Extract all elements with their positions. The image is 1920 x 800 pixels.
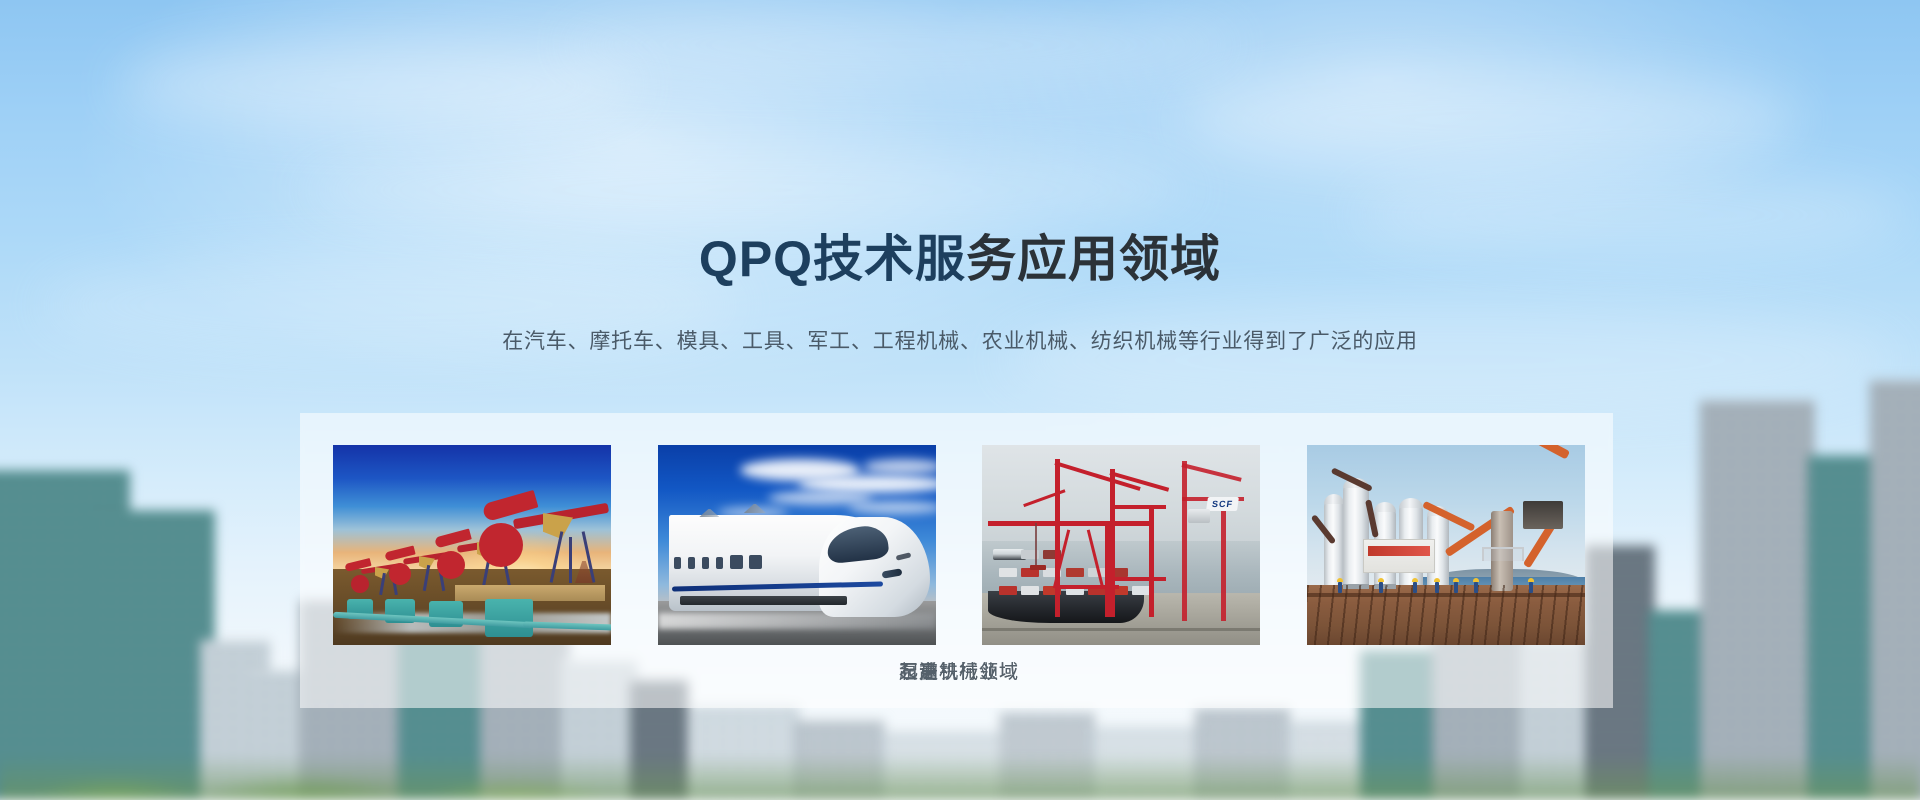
- scf-logo: SCF: [1206, 497, 1239, 511]
- application-card[interactable]: 石油机械领域: [333, 445, 611, 645]
- application-card-list: 石油机械领域: [333, 445, 1585, 645]
- application-card[interactable]: 高铁行业: [658, 445, 936, 645]
- page-title: QPQ技术服务应用领域: [0, 232, 1920, 287]
- page-title-main: QPQ技术服: [699, 231, 966, 287]
- page-title-tail: 务应用领域: [966, 231, 1221, 287]
- site-banner: [1363, 539, 1435, 573]
- page-subtitle: 在汽车、摩托车、模具、工具、军工、工程机械、农业机械、纺织机械等行业得到了广泛的…: [0, 325, 1920, 355]
- high-speed-train-photo[interactable]: [658, 445, 936, 645]
- application-card-label: 泵送机械领域: [333, 657, 1585, 684]
- port-gantry-cranes-photo[interactable]: SCF: [982, 445, 1260, 645]
- oil-pumpjacks-photo[interactable]: [333, 445, 611, 645]
- operator-cabin: [1523, 501, 1563, 529]
- application-card[interactable]: 泵送机械领域: [1307, 445, 1585, 645]
- application-card[interactable]: SCF 起重机械领域: [982, 445, 1260, 645]
- concrete-pump-photo[interactable]: [1307, 445, 1585, 645]
